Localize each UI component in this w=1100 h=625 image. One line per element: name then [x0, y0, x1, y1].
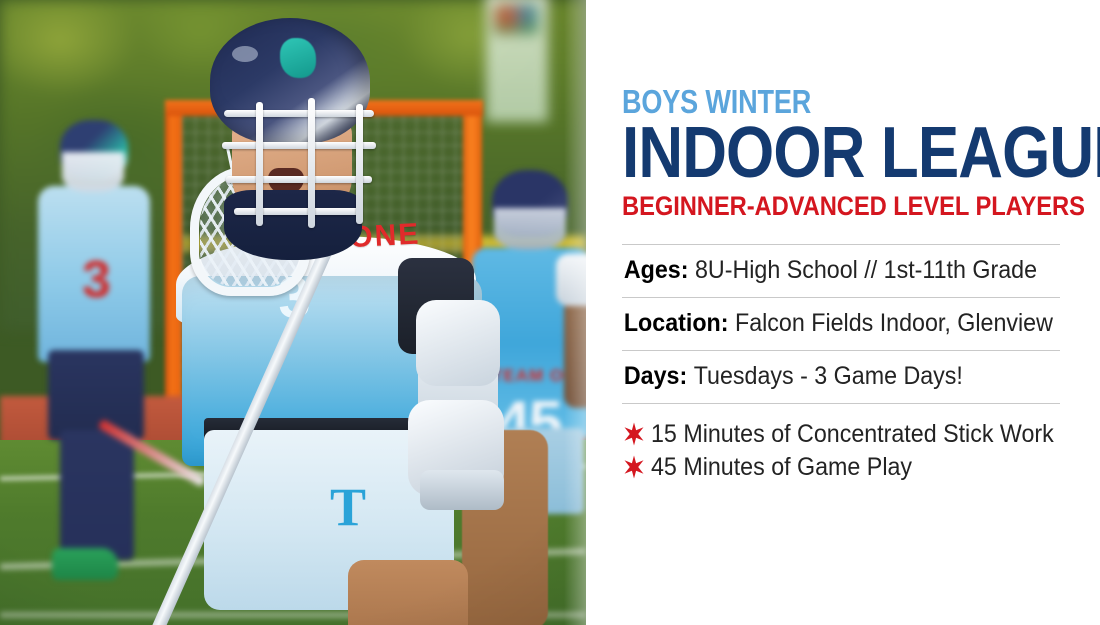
player-facemask — [216, 88, 378, 238]
page-title: INDOOR LEAGUE — [622, 120, 1100, 186]
details-list: Ages: 8U-High School // 1st-11th Grade L… — [622, 244, 1060, 404]
info-panel: BOYS WINTER INDOOR LEAGUE BEGINNER-ADVAN… — [586, 0, 1100, 625]
facemask-bar — [356, 104, 363, 224]
player-glove-cuff — [420, 470, 504, 510]
background-player-left-shoe — [52, 548, 118, 580]
facemask-bar — [222, 142, 376, 149]
hero-photo: 3 TEAM ONE 45 TEAM ONE — [0, 0, 586, 625]
facemask-bar — [256, 102, 263, 226]
subtitle: BEGINNER-ADVANCED LEVEL PLAYERS — [622, 193, 1100, 220]
detail-label-ages: Ages: — [624, 256, 689, 285]
detail-value-location: Falcon Fields Indoor, Glenview — [735, 309, 1053, 338]
detail-label-days: Days: — [624, 362, 687, 391]
detail-label-location: Location: — [624, 309, 729, 338]
facemask-bar — [226, 176, 372, 183]
list-item-label: 45 Minutes of Game Play — [651, 453, 912, 482]
facemask-bar — [234, 208, 362, 215]
player-front-leg — [348, 560, 468, 625]
six-point-star-icon — [622, 422, 646, 446]
player-glove-upper — [416, 300, 500, 386]
detail-row-location: Location: Falcon Fields Indoor, Glenview — [622, 298, 1029, 350]
background-player-left-legs — [60, 430, 134, 560]
bullet-list: 15 Minutes of Concentrated Stick Work 45… — [622, 420, 1100, 482]
background-player-left-shorts — [48, 350, 144, 440]
promo-poster: 3 TEAM ONE 45 TEAM ONE — [0, 0, 1100, 625]
divider — [622, 403, 1060, 404]
list-item-label: 15 Minutes of Concentrated Stick Work — [651, 420, 1054, 449]
player-shorts-logo: T — [330, 476, 366, 538]
detail-value-ages: 8U-High School // 1st-11th Grade — [695, 256, 1037, 285]
detail-value-days: Tuesdays - 3 Game Days! — [694, 362, 963, 391]
list-item: 45 Minutes of Game Play — [622, 453, 1100, 482]
detail-row-ages: Ages: 8U-High School // 1st-11th Grade — [622, 245, 1029, 297]
background-player-left-facemask — [62, 152, 124, 192]
background-player-left-number: 3 — [82, 250, 111, 310]
detail-row-days: Days: Tuesdays - 3 Game Days! — [622, 351, 1029, 403]
facemask-bar — [308, 98, 315, 228]
facemask-bar — [224, 110, 374, 117]
six-point-star-icon — [622, 455, 646, 479]
helmet-vent — [232, 46, 258, 62]
list-item: 15 Minutes of Concentrated Stick Work — [622, 420, 1100, 449]
background-player-left: 3 — [30, 60, 170, 580]
foreground-player: TEAM ONE 3 T — [170, 0, 586, 625]
helmet-teal-decal — [280, 38, 316, 78]
